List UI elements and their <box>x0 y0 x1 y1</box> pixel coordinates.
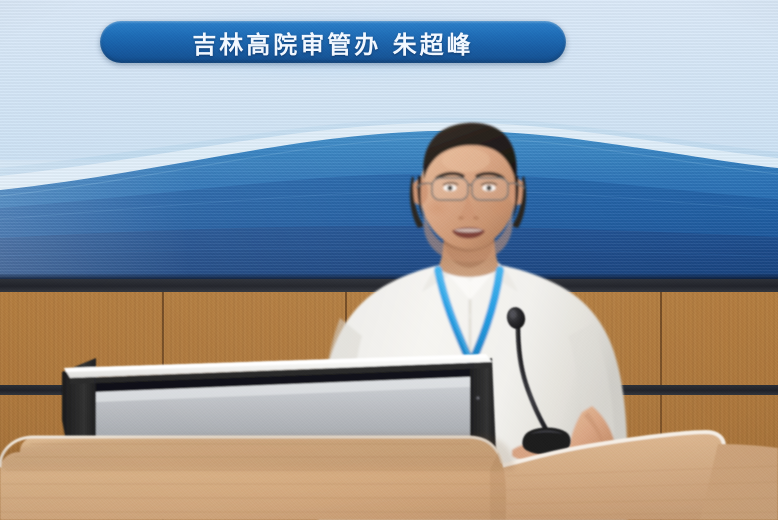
desk-right-wing <box>500 432 724 520</box>
presentation-photo: 吉林高院审管办 朱超峰 <box>0 0 778 520</box>
foreground-desk <box>0 0 778 520</box>
